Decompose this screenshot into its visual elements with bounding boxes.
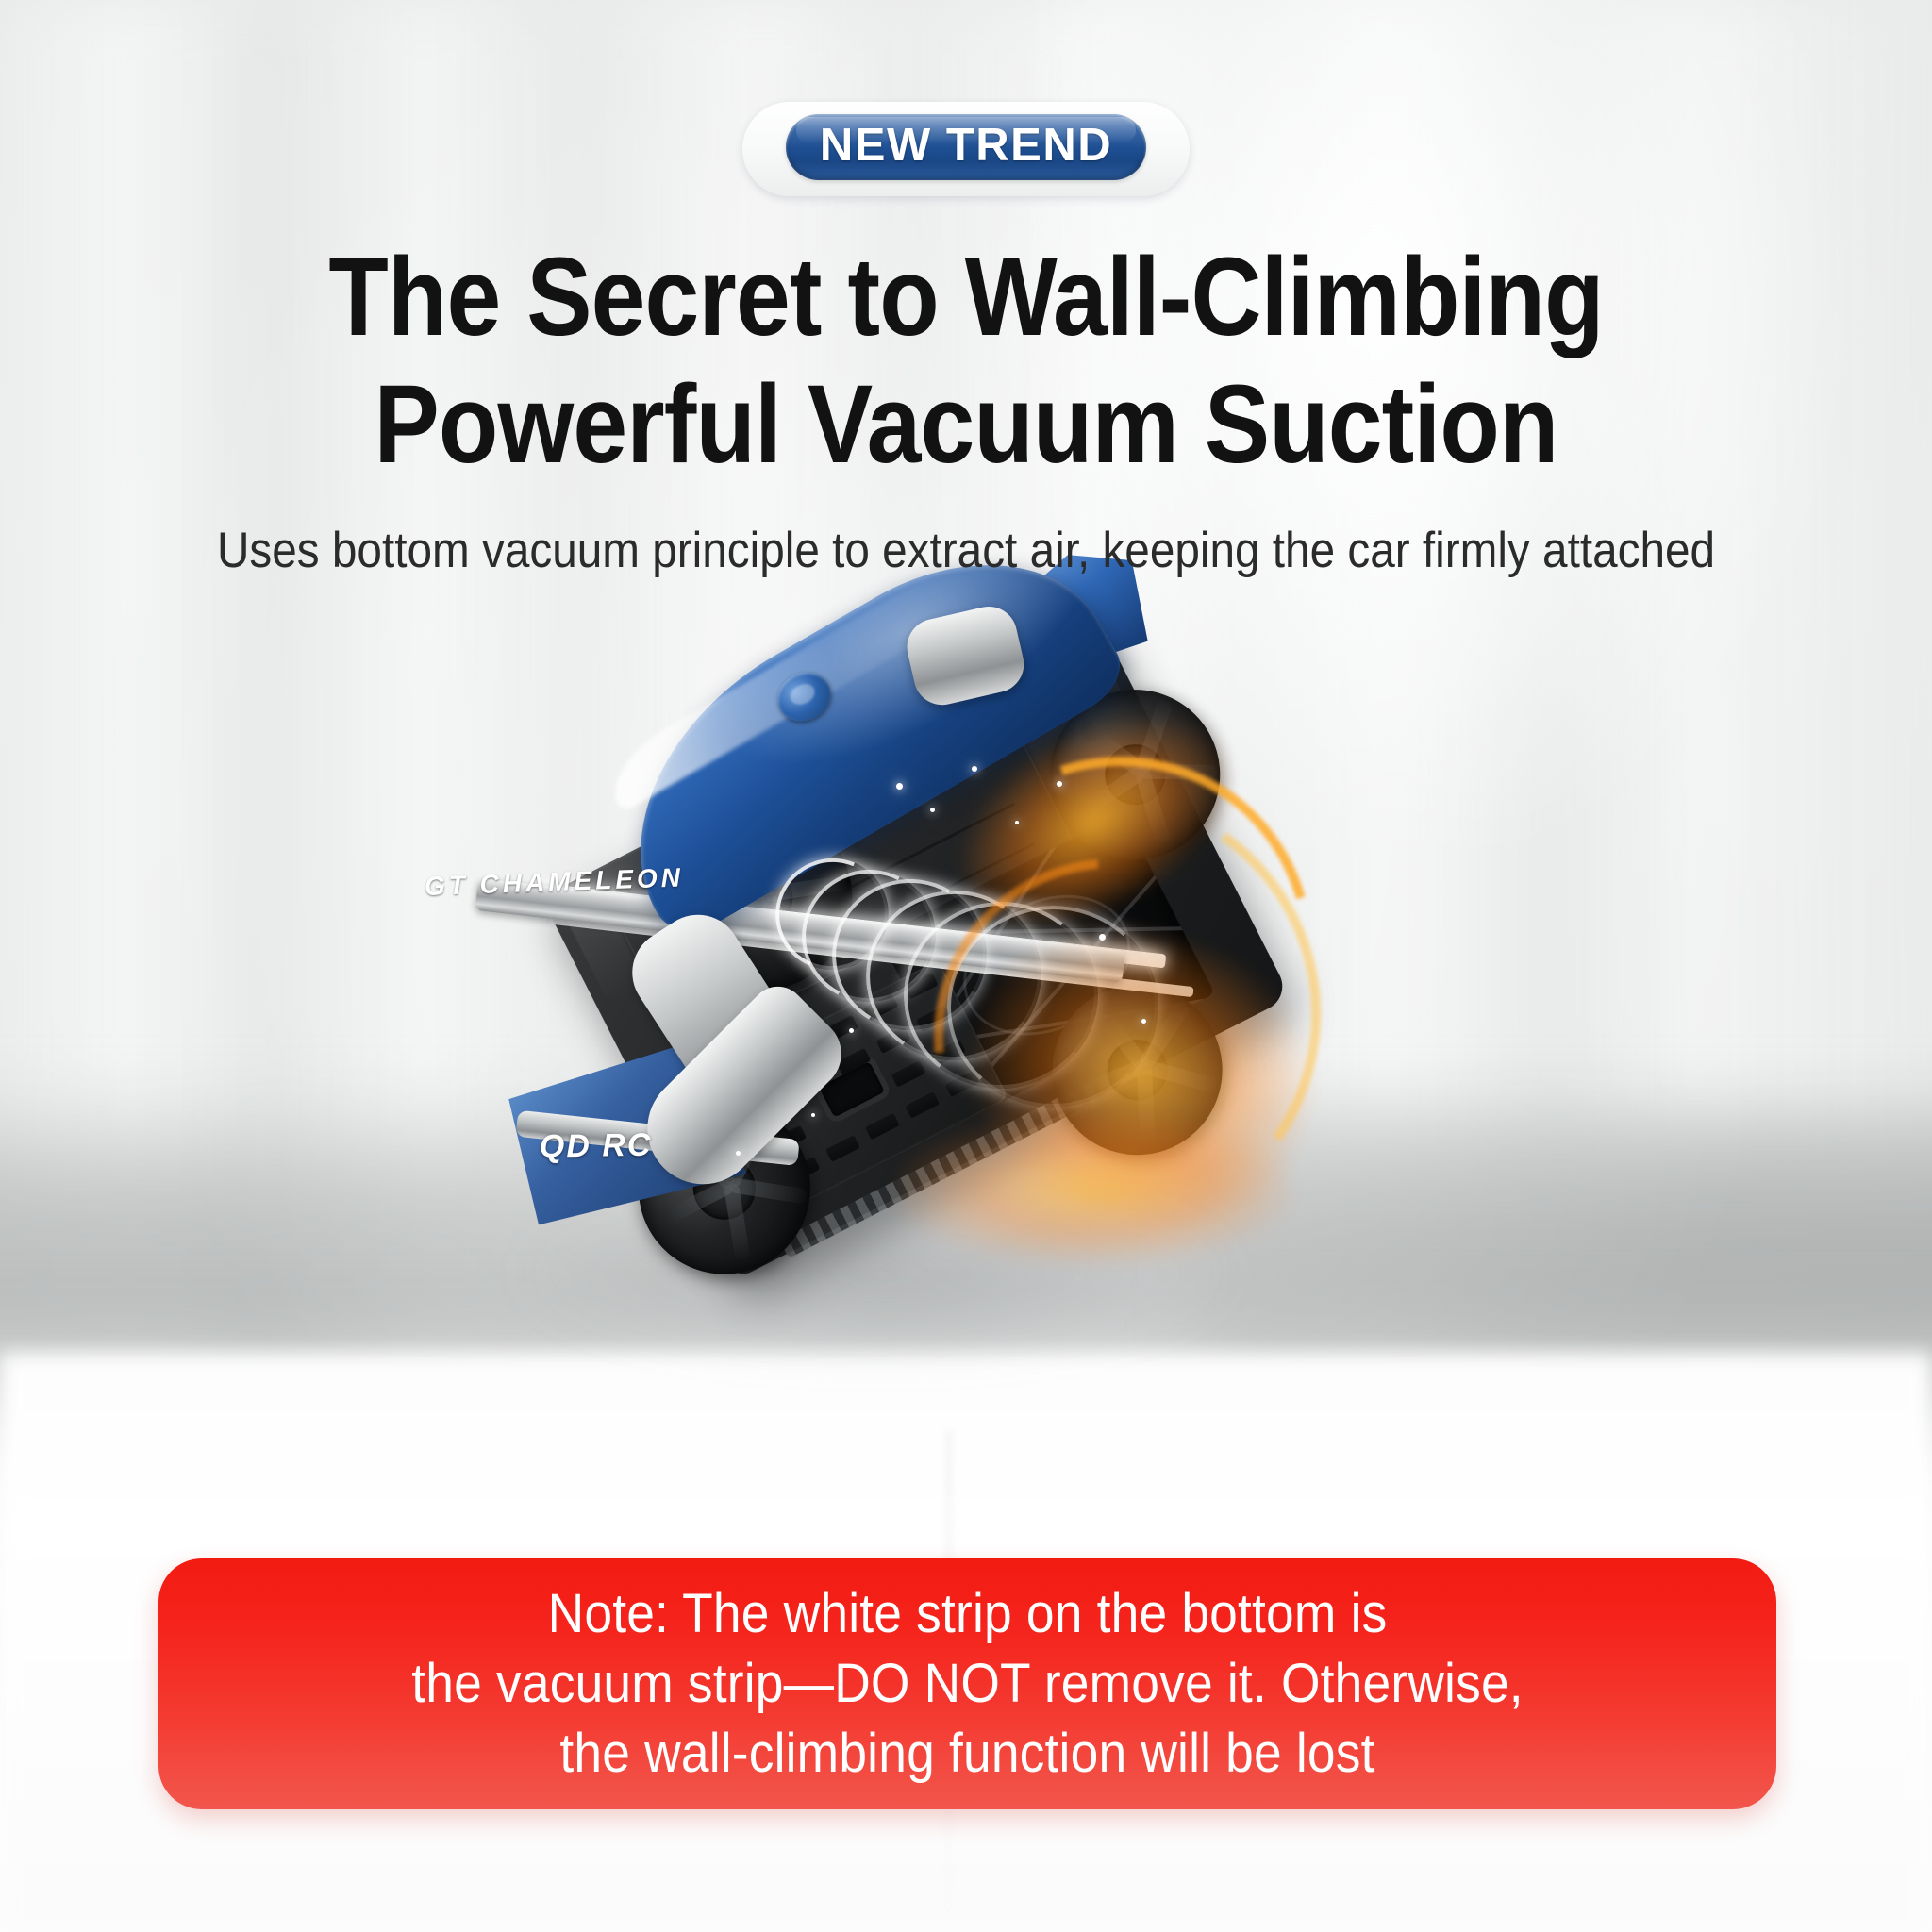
note-line-1: Note: The white strip on the bottom is xyxy=(411,1579,1524,1649)
badge-row: NEW TREND xyxy=(0,102,1932,196)
new-trend-badge-label: NEW TREND xyxy=(820,123,1112,169)
headline-line-2: Powerful Vacuum Suction xyxy=(116,361,1816,489)
note-line-3: the wall-climbing function will be lost xyxy=(411,1719,1524,1789)
warning-note-text: Note: The white strip on the bottom is t… xyxy=(411,1579,1524,1790)
wheel-spoke xyxy=(1141,764,1216,780)
warning-note-box: Note: The white strip on the bottom is t… xyxy=(158,1558,1776,1809)
headline-line-1: The Secret to Wall-Climbing xyxy=(116,234,1816,361)
rc-car-underside: QD RC xyxy=(351,479,1441,1483)
product-stage: QD RC xyxy=(406,623,1500,1491)
new-trend-badge: NEW TREND xyxy=(742,102,1190,196)
page-subtitle: Uses bottom vacuum principle to extract … xyxy=(96,522,1835,579)
header-block: NEW TREND The Secret to Wall-Climbing Po… xyxy=(0,0,1932,579)
brand-logo-rear: QD RC xyxy=(539,1127,652,1166)
page-title: The Secret to Wall-Climbing Powerful Vac… xyxy=(116,234,1816,488)
new-trend-badge-inner: NEW TREND xyxy=(786,114,1146,180)
note-line-2: the vacuum strip—DO NOT remove it. Other… xyxy=(411,1649,1524,1719)
